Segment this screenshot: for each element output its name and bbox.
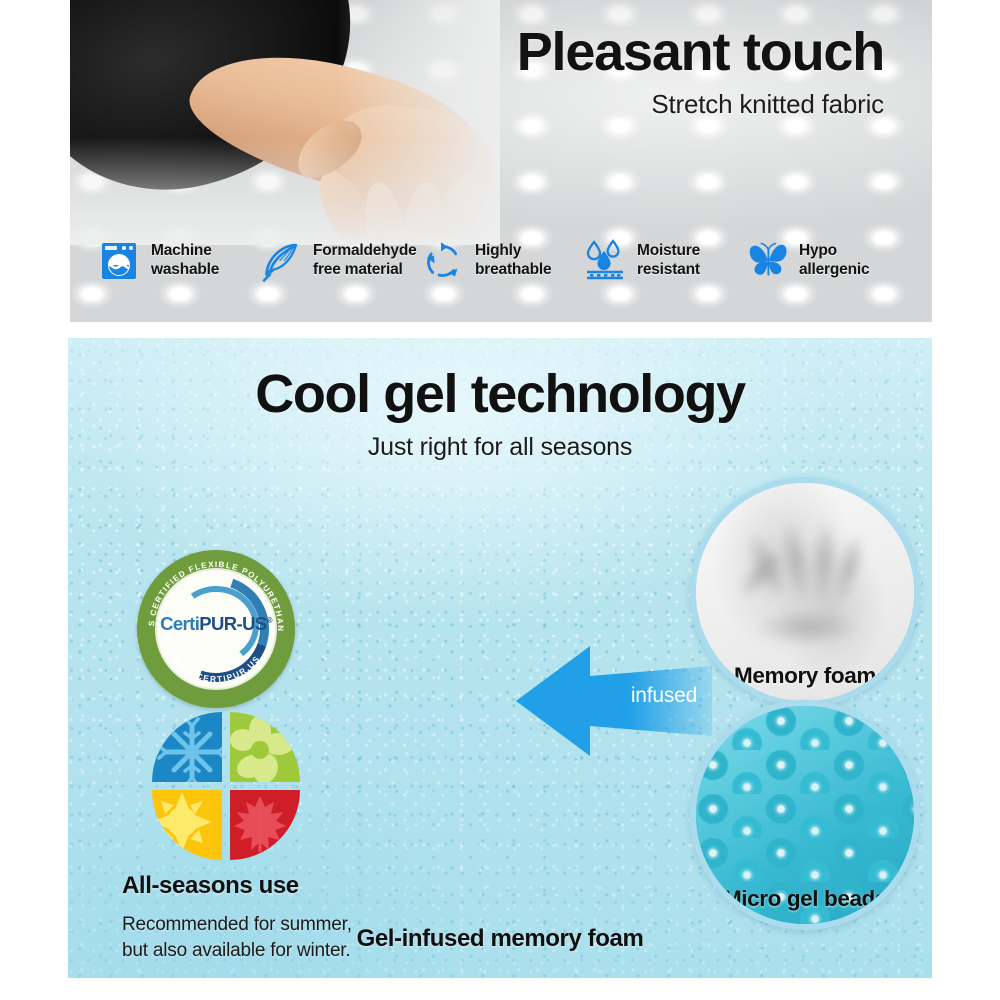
feature-highly-breathable: Highly breathable	[420, 238, 582, 284]
gel-infused-memory-foam-caption: Gel-infused memory foam	[0, 925, 1000, 953]
butterfly-icon	[744, 238, 790, 284]
wheel-quadrant-spring	[230, 712, 300, 782]
infused-label: infused	[616, 684, 712, 708]
page-title: Pleasant touch	[517, 24, 884, 81]
mf-palm-imprint	[756, 609, 860, 645]
infographic-root: Pleasant touch Stretch knitted fabric	[0, 0, 1000, 1000]
svg-text:WWW.CERTIPUR.US: WWW.CERTIPUR.US	[170, 653, 262, 684]
memory-foam-caption: Memory foam	[696, 663, 914, 689]
feature-formaldehyde-free: Formaldehyde free material	[258, 238, 420, 284]
section-title: Cool gel technology	[68, 366, 932, 423]
wheel-quadrant-autumn	[230, 790, 300, 860]
section-heading-block: Cool gel technology Just right for all s…	[68, 366, 932, 462]
all-seasons-title: All-seasons use	[122, 872, 452, 900]
feature-moisture-resistant: Moisture resistant	[582, 238, 744, 284]
wheel-quadrant-winter	[152, 712, 222, 782]
memory-foam-photo-circle: Memory foam	[690, 477, 920, 707]
wheel-quadrant-summer	[152, 790, 222, 860]
feather-icon	[258, 238, 304, 284]
sun-icon	[152, 790, 222, 860]
feature-machine-washable: Machine washable	[96, 238, 258, 284]
page-subtitle: Stretch knitted fabric	[517, 89, 884, 120]
top-heading-block: Pleasant touch Stretch knitted fabric	[517, 24, 884, 120]
hand-on-fabric-photo	[70, 0, 500, 245]
washing-machine-icon	[96, 238, 142, 284]
infused-arrow: infused	[512, 638, 716, 766]
feature-hypo-allergenic: Hypo allergenic	[744, 238, 906, 284]
gel-beads-caption: Micro gel beads	[696, 886, 914, 912]
section-subtitle: Just right for all seasons	[68, 433, 932, 462]
feature-label: Moisture resistant	[637, 242, 700, 280]
certipur-us-badge: CONTAINS CERTIFIED FLEXIBLE POLYURETHANE…	[137, 550, 295, 708]
pleasant-touch-panel: Pleasant touch Stretch knitted fabric	[70, 0, 932, 322]
feature-label: Machine washable	[151, 242, 219, 280]
maple-leaf-icon	[230, 790, 300, 860]
flower-icon	[230, 712, 300, 782]
feature-icon-strip: Machine washable Formaldehyde free mater…	[70, 230, 932, 292]
all-seasons-wheel	[152, 712, 300, 860]
air-circulation-icon	[420, 238, 466, 284]
snowflake-icon	[152, 712, 222, 782]
feature-label: Formaldehyde free material	[313, 242, 417, 280]
feature-label: Hypo allergenic	[799, 242, 869, 280]
badge-arc-bottom-text: WWW.CERTIPUR.US	[137, 550, 295, 708]
water-droplets-icon	[582, 238, 628, 284]
gel-beads-photo-circle: Micro gel beads	[690, 700, 920, 930]
feature-label: Highly breathable	[475, 242, 551, 280]
photo-edge-fade	[70, 0, 500, 245]
